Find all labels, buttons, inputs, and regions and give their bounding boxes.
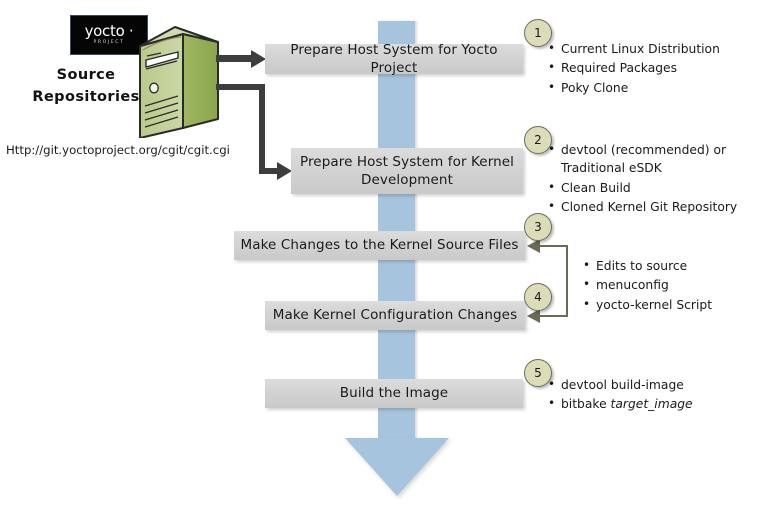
source-repositories-label-line1: Source <box>30 65 142 87</box>
list-item: Poky Clone <box>548 79 720 97</box>
source-repositories-label-line2: Repositories <box>30 87 142 109</box>
step-number-badge-2-value: 2 <box>534 133 542 147</box>
yocto-logo-subtext: PROJECT <box>93 41 124 46</box>
step-box-4-label: Make Kernel Configuration Changes <box>273 306 517 324</box>
connector-to-step2-arrowhead <box>277 162 292 180</box>
step-box-5[interactable]: Build the Image <box>265 379 523 408</box>
list-item: bitbake target_image <box>548 395 693 413</box>
step-box-2-label: Prepare Host System for Kernel Developme… <box>291 153 523 189</box>
list-item: Clean Build <box>548 179 737 197</box>
step-2-bullet-list: devtool (recommended) or Traditional eSD… <box>548 141 737 218</box>
server-tower-icon <box>137 24 221 138</box>
list-item: yocto-kernel Script <box>583 296 712 314</box>
step-box-4[interactable]: Make Kernel Configuration Changes <box>265 301 525 330</box>
step-number-badge-4: 4 <box>524 283 552 311</box>
source-repositories-url: Http://git.yoctoproject.org/cgit/cgit.cg… <box>6 143 230 157</box>
step-number-badge-2: 2 <box>524 126 552 154</box>
list-item: devtool build-image <box>548 376 693 394</box>
feedback-bracket-bottom-horizontal <box>540 315 567 317</box>
step-box-1[interactable]: Prepare Host System for Yocto Project <box>265 44 523 74</box>
step-box-2[interactable]: Prepare Host System for Kernel Developme… <box>291 148 523 194</box>
step-box-1-label: Prepare Host System for Yocto Project <box>265 41 523 77</box>
yocto-logo-wordmark: yocto · <box>85 24 134 39</box>
diagram-canvas: yocto · PROJECT Source Repositories Http… <box>0 0 769 517</box>
connector-to-step1-line <box>216 55 256 62</box>
connector-to-step2-horizontal-top <box>216 84 265 90</box>
list-item: Cloned Kernel Git Repository <box>548 198 737 216</box>
step-number-badge-1: 1 <box>524 19 552 47</box>
steps-3-4-bullet-list: Edits to source menuconfig yocto-kernel … <box>583 257 712 315</box>
step-box-5-label: Build the Image <box>340 384 448 402</box>
feedback-bracket-vertical <box>566 245 568 317</box>
step-number-badge-1-value: 1 <box>534 26 542 40</box>
step-5-bullet-list: devtool build-image bitbake target_image <box>548 376 693 415</box>
list-item: Required Packages <box>548 59 720 77</box>
step-1-bullet-list: Current Linux Distribution Required Pack… <box>548 40 720 98</box>
list-item: Edits to source <box>583 257 712 275</box>
step-number-badge-5-value: 5 <box>534 366 542 380</box>
connector-to-step2-vertical <box>259 84 265 171</box>
list-item: Current Linux Distribution <box>548 40 720 58</box>
list-item-emphasis: target_image <box>611 397 693 411</box>
list-item: menuconfig <box>583 276 712 294</box>
connector-to-step1-arrowhead <box>251 50 266 68</box>
step-number-badge-3: 3 <box>524 213 552 241</box>
step-number-badge-4-value: 4 <box>534 290 542 304</box>
source-repositories-label: Source Repositories <box>30 65 142 109</box>
step-box-3-label: Make Changes to the Kernel Source Files <box>240 236 518 254</box>
step-number-badge-3-value: 3 <box>534 220 542 234</box>
feedback-bracket-top-horizontal <box>540 245 567 247</box>
list-item: devtool (recommended) or Traditional eSD… <box>548 141 729 178</box>
list-item-prefix: bitbake <box>561 397 611 411</box>
step-number-badge-5: 5 <box>524 359 552 387</box>
main-flow-arrow-head <box>345 438 449 496</box>
step-box-3[interactable]: Make Changes to the Kernel Source Files <box>234 231 525 260</box>
